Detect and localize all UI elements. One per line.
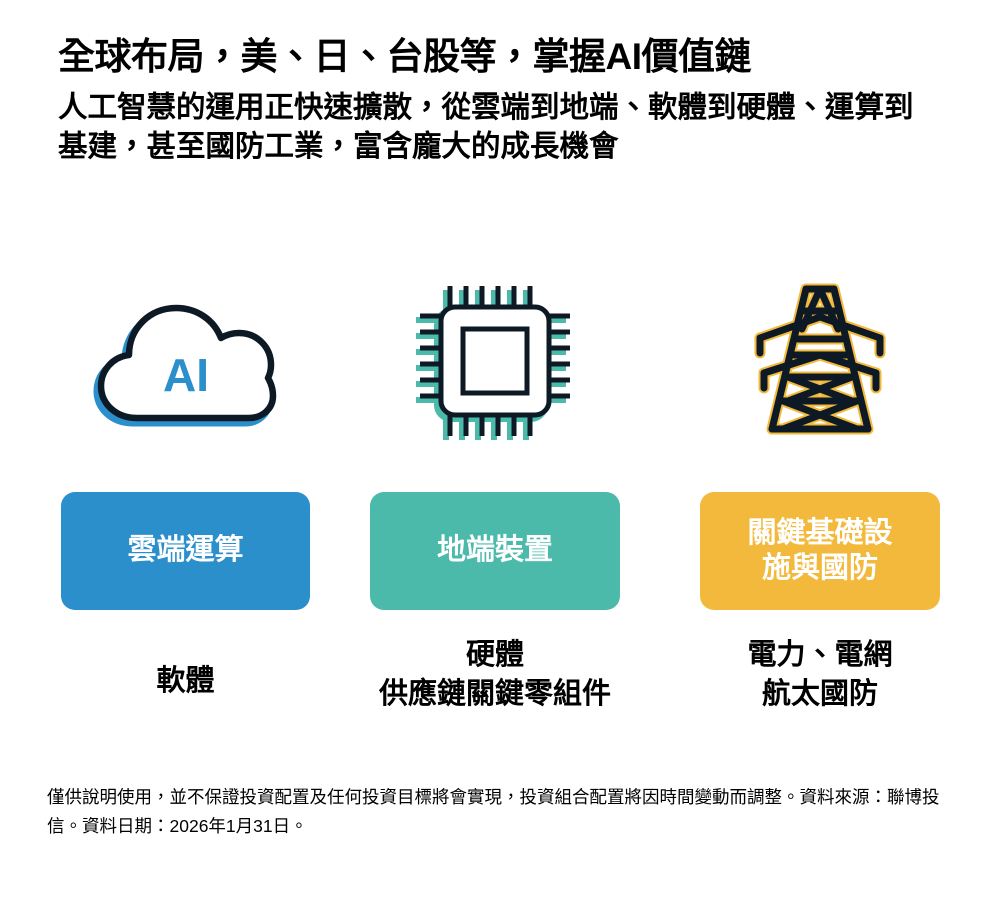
label-box-edge-device-text: 地端裝置: [437, 533, 553, 568]
label-box-infrastructure-defense-line2: 施與國防: [762, 552, 878, 584]
cloud-ai-label: AI: [163, 349, 209, 401]
label-box-infrastructure-defense-line1: 關鍵基礎設: [747, 517, 892, 549]
icon-cell-cloud: AI: [61, 268, 310, 453]
label-box-infrastructure-defense-text: 關鍵基礎設 施與國防: [747, 516, 892, 587]
label-box-cloud-computing-text: 雲端運算: [127, 533, 243, 568]
cloud-ai-icon: AI: [93, 286, 278, 436]
caption-power-defense-line1: 電力、電網: [747, 639, 892, 671]
footer-disclaimer: 僅供說明使用，並不保證投資配置及任何投資目標將會實現，投資組合配置將因時間變動而…: [47, 783, 959, 841]
caption-hardware-line2: 供應鏈關鍵零組件: [379, 678, 611, 710]
caption-power-defense-line2: 航太國防: [762, 678, 878, 710]
label-box-cloud-computing[interactable]: 雲端運算: [61, 492, 310, 610]
caption-power-defense: 電力、電網 航太國防: [690, 636, 950, 714]
label-box-row: 雲端運算 地端裝置 關鍵基礎設 施與國防: [0, 492, 1000, 612]
page-title: 全球布局，美、日、台股等，掌握AI價值鏈: [58, 36, 958, 79]
caption-row: 軟體 硬體 供應鏈關鍵零組件 電力、電網 航太國防: [0, 636, 1000, 746]
caption-hardware-line1: 硬體: [466, 639, 524, 671]
icon-cell-chip: [370, 268, 620, 453]
icon-row: AI: [0, 268, 1000, 458]
power-transmission-tower-icon: [750, 281, 890, 441]
page-subtitle: 人工智慧的運用正快速擴散，從雲端到地端、軟體到硬體、運算到基建，甚至國防工業，富…: [58, 88, 938, 166]
label-box-edge-device[interactable]: 地端裝置: [370, 492, 620, 610]
caption-software-line1: 軟體: [156, 665, 214, 697]
microchip-icon: [415, 281, 575, 441]
header: 全球布局，美、日、台股等，掌握AI價值鏈 人工智慧的運用正快速擴散，從雲端到地端…: [58, 36, 958, 166]
caption-software: 軟體: [61, 662, 310, 701]
caption-hardware: 硬體 供應鏈關鍵零組件: [350, 636, 640, 714]
label-box-infrastructure-defense[interactable]: 關鍵基礎設 施與國防: [700, 492, 940, 610]
icon-cell-tower: [700, 268, 940, 453]
